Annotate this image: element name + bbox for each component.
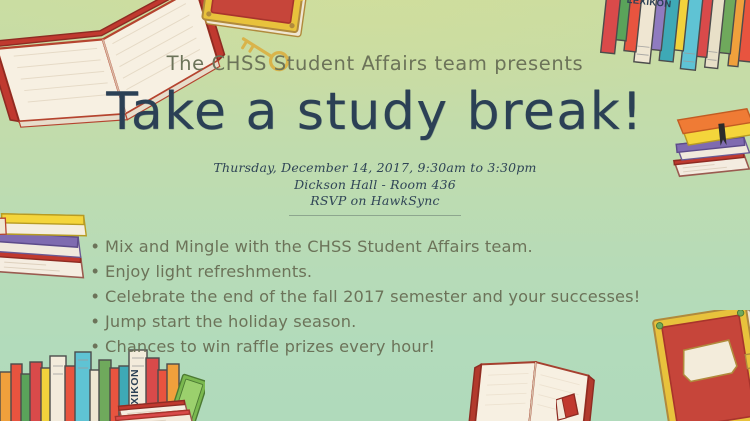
highlights-list: • Mix and Mingle with the CHSS Student A… [92, 235, 712, 360]
bullet-marker-icon: • [92, 235, 105, 257]
list-item-label: Chances to win raffle prizes every hour! [105, 335, 435, 358]
divider [289, 215, 461, 216]
list-item: • Celebrate the end of the fall 2017 sem… [92, 285, 712, 309]
list-item: • Jump start the holiday season. [92, 310, 712, 334]
page-title: Take a study break! [0, 80, 750, 144]
poster-canvas: LEXIKON [0, 0, 750, 421]
list-item-label: Celebrate the end of the fall 2017 semes… [105, 285, 640, 308]
list-item-label: Mix and Mingle with the CHSS Student Aff… [105, 235, 533, 258]
bullet-marker-icon: • [92, 285, 105, 307]
list-item-label: Jump start the holiday season. [105, 310, 356, 333]
list-item: • Enjoy light refreshments. [92, 260, 712, 284]
event-location: Dickson Hall - Room 436 [0, 177, 750, 194]
list-item-label: Enjoy light refreshments. [105, 260, 312, 283]
bullet-marker-icon: • [92, 260, 105, 282]
divider-wrapper [0, 215, 750, 216]
event-rsvp: RSVP on HawkSync [0, 193, 750, 210]
event-details: Thursday, December 14, 2017, 9:30am to 3… [0, 160, 750, 210]
list-item: • Chances to win raffle prizes every hou… [92, 335, 712, 359]
poster-content: The CHSS Student Affairs team presents T… [0, 0, 750, 421]
list-item: • Mix and Mingle with the CHSS Student A… [92, 235, 712, 259]
bullet-marker-icon: • [92, 335, 105, 357]
event-datetime: Thursday, December 14, 2017, 9:30am to 3… [0, 160, 750, 177]
eyebrow-text: The CHSS Student Affairs team presents [0, 52, 750, 75]
bullet-marker-icon: • [92, 310, 105, 332]
